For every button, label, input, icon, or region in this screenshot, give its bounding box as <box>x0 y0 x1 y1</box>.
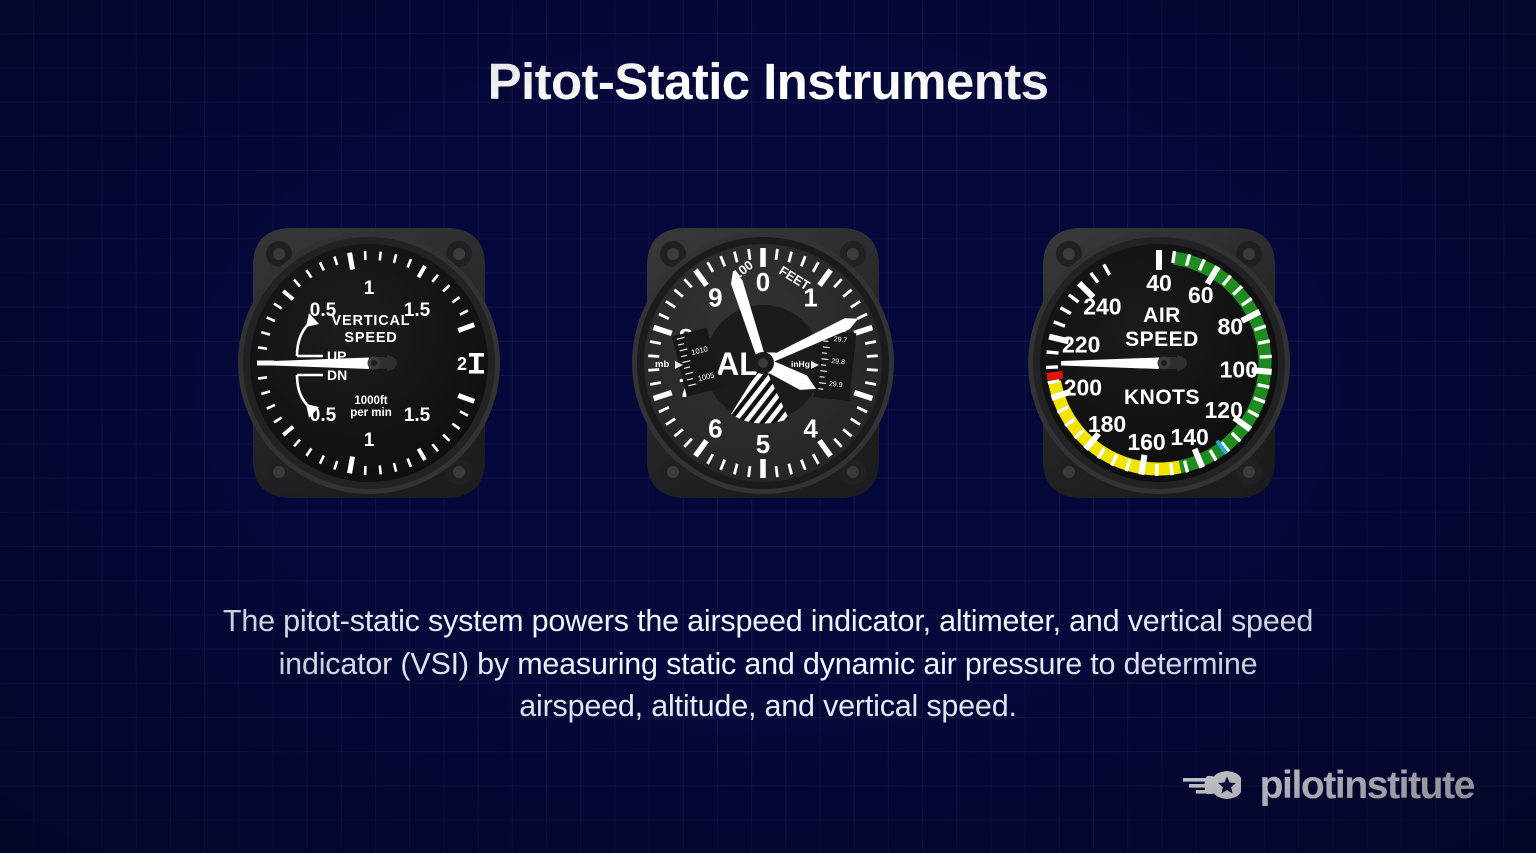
vsi-units-line1: 1000ft <box>354 395 387 407</box>
kollsman-inhg-value-299: 29.9 <box>829 381 843 389</box>
asi-numeral-240: 240 <box>1083 293 1121 319</box>
asi-numeral-140: 140 <box>1170 424 1208 450</box>
asi-numeral-220: 220 <box>1062 331 1100 357</box>
asi-numeral-180: 180 <box>1088 411 1126 437</box>
vsi-dn-label: DN <box>327 367 347 383</box>
vsi-numeral-dn-1-5: 1.5 <box>404 405 431 426</box>
vsi-numeral-up-1: 1 <box>364 278 375 299</box>
alt-numeral-4: 4 <box>803 414 818 444</box>
asi-label-line1: AIR <box>1143 304 1181 327</box>
alt-needle-hub-cap <box>758 358 768 368</box>
alt-numeral-6: 6 <box>708 414 722 444</box>
asi-numeral-200: 200 <box>1064 375 1102 401</box>
asi-numeral-120: 120 <box>1205 397 1243 423</box>
vsi-numeral-2: 2 <box>457 354 467 374</box>
winged-shield-star-icon <box>1181 765 1247 805</box>
vsi-numeral-dn-1: 1 <box>364 430 375 451</box>
kollsman-inhg-value-298: 29.8 <box>831 358 845 366</box>
asi-label-line2: SPEED <box>1125 328 1199 351</box>
asi-numeral-160: 160 <box>1127 429 1165 455</box>
alt-numeral-9: 9 <box>708 283 722 313</box>
asi-red-line <box>1047 375 1063 377</box>
brand-logo: pilotinstitute <box>1181 765 1474 805</box>
asi-numeral-100: 100 <box>1220 356 1258 382</box>
airspeed-indicator: 406080100120140160180200220240 AIR SPEED… <box>1009 208 1309 518</box>
instrument-row: 0.5 1 1.5 0.5 1 1.5 2 VERTICAL <box>0 208 1536 518</box>
asi-numeral-40: 40 <box>1146 270 1172 296</box>
alt-numeral-0: 0 <box>756 267 770 297</box>
asi-numeral-80: 80 <box>1218 314 1244 340</box>
logo-wordmark: pilotinstitute <box>1260 766 1474 805</box>
alt-numeral-5: 5 <box>756 429 770 459</box>
kollsman-inhg-label: inHg <box>791 359 810 369</box>
infographic-canvas: Pitot-Static Instruments <box>0 0 1536 853</box>
vsi-label-line1: VERTICAL <box>332 313 411 329</box>
vsi-label-line2: SPEED <box>344 330 397 346</box>
caption-text: The pitot-static system powers the airsp… <box>218 600 1318 728</box>
page-title: Pitot-Static Instruments <box>0 52 1536 111</box>
asi-units-label: KNOTS <box>1124 386 1200 409</box>
asi-numeral-60: 60 <box>1188 282 1214 308</box>
altimeter: 0123456789 100 FEET ALT <box>613 208 913 518</box>
vertical-speed-indicator: 0.5 1 1.5 0.5 1 1.5 2 VERTICAL <box>219 208 519 518</box>
vsi-units-line2: per min <box>350 407 392 419</box>
kollsman-mb-label: mb <box>655 359 669 370</box>
kollsman-inhg-value-297: 29.7 <box>833 336 847 344</box>
